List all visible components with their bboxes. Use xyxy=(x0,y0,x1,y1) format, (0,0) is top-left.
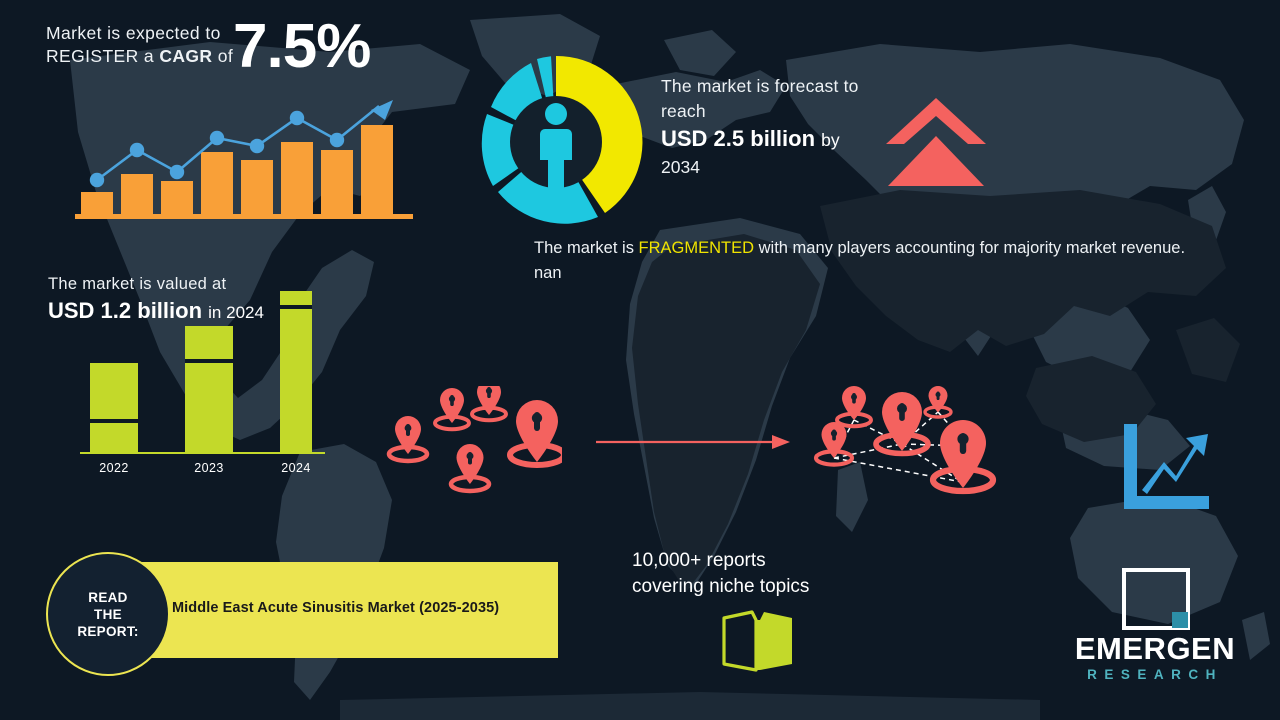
reports-line-2: covering niche topics xyxy=(632,574,932,600)
market-value-bar-chart: 2022 2023 2024 xyxy=(80,295,340,475)
forecast-line-1: The market is forecast to reach xyxy=(661,74,901,124)
report-title[interactable]: Middle East Acute Sinusitis Market (2025… xyxy=(172,600,499,616)
logo-subtitle: RESEARCH xyxy=(1060,667,1250,682)
growth-trend-bar-chart xyxy=(75,88,415,222)
right-arrow-icon xyxy=(596,432,792,452)
badge-line-1: READ xyxy=(88,589,127,606)
trend-arrow-head xyxy=(371,100,393,120)
cagr-value: 7.5% xyxy=(233,16,370,78)
read-the-report-badge[interactable]: READ THE REPORT: xyxy=(46,552,170,676)
forecast-by-label: by xyxy=(821,130,839,150)
badge-line-2: THE xyxy=(94,606,122,623)
bar-2024-divider xyxy=(280,305,312,309)
trend-up-arrow-icon xyxy=(1142,434,1208,494)
forecast-text-block: The market is forecast to reach USD 2.5 … xyxy=(661,74,901,179)
reports-line-1: 10,000+ reports xyxy=(632,548,932,574)
connected-location-pin-network-icon xyxy=(806,386,1006,498)
cagr-of-text: of xyxy=(212,46,233,66)
double-up-arrow-icon xyxy=(884,96,988,188)
location-pin-cluster-icon xyxy=(382,386,562,494)
bar-2022 xyxy=(90,363,138,453)
frag-pre: The market is xyxy=(534,239,639,257)
read-the-report-badge-text: READ THE REPORT: xyxy=(48,554,168,674)
bar-2023-divider xyxy=(185,359,233,363)
open-book-icon xyxy=(720,608,796,674)
badge-line-3: REPORT: xyxy=(77,623,138,640)
bar-label-2024: 2024 xyxy=(268,461,324,475)
market-share-donut-icon xyxy=(466,52,646,232)
bar-chart-icon xyxy=(1120,424,1212,512)
bar-2024 xyxy=(280,291,312,453)
emergen-square-logo-icon xyxy=(1122,568,1190,630)
bar-2022-divider xyxy=(90,419,138,423)
reports-count-text: 10,000+ reports covering niche topics xyxy=(632,548,932,600)
logo-wordmark: EMERGEN xyxy=(1060,632,1250,666)
forecast-value: USD 2.5 billion xyxy=(661,126,815,151)
bar-label-2022: 2022 xyxy=(86,461,142,475)
infographic-canvas: Market is expected to REGISTER a CAGR of… xyxy=(0,0,1280,720)
bar-label-2023: 2023 xyxy=(181,461,237,475)
emergen-research-logo: EMERGEN RESEARCH xyxy=(1060,568,1260,698)
forecast-year: 2034 xyxy=(661,155,901,179)
cagr-register-text: REGISTER a xyxy=(46,46,159,66)
fragmentation-text: The market is FRAGMENTED with many playe… xyxy=(534,236,1210,286)
frag-highlight: FRAGMENTED xyxy=(639,239,755,257)
forecast-value-line: USD 2.5 billion by xyxy=(661,124,901,155)
cagr-bold-label: CAGR xyxy=(159,46,212,66)
bar-2023 xyxy=(185,326,233,453)
